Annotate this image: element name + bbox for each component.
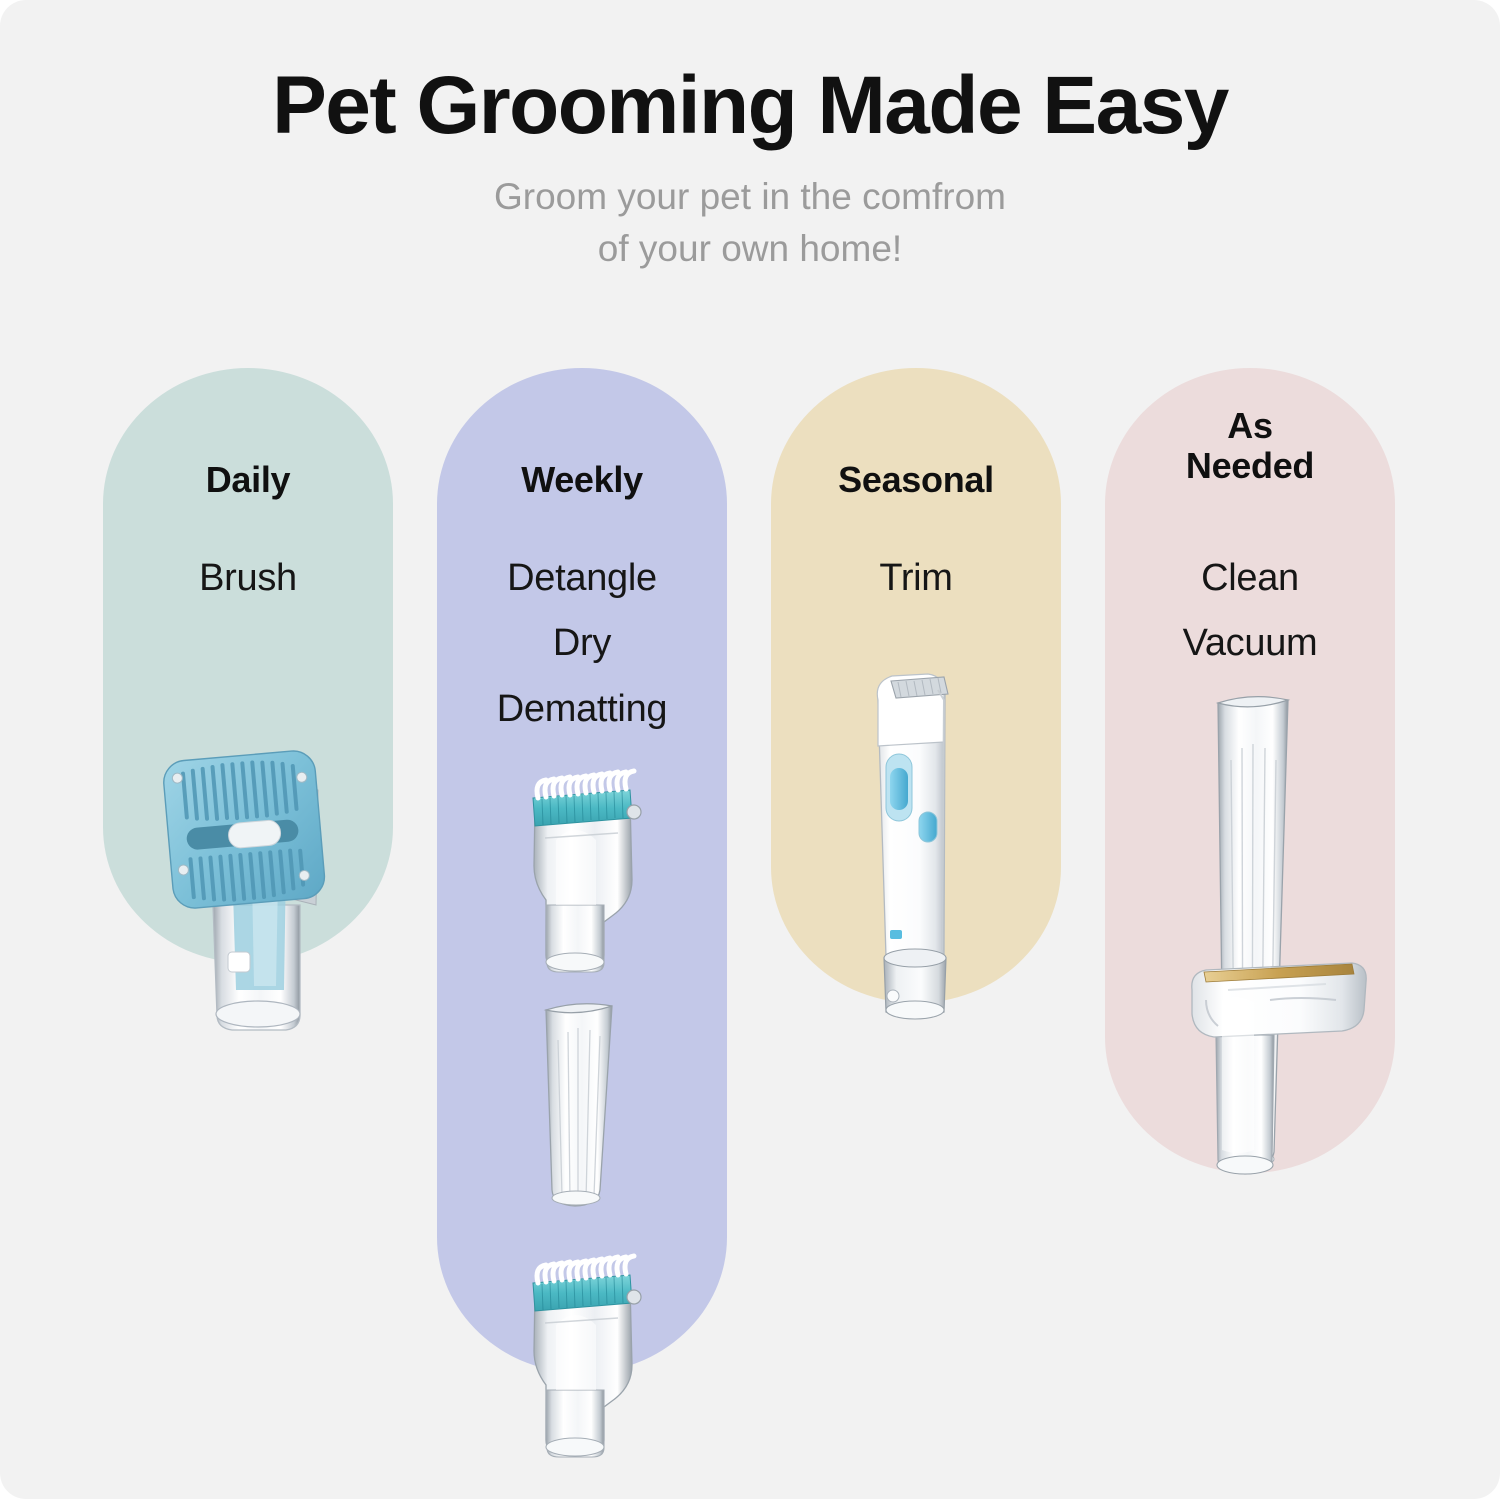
list-item: Dry: [437, 611, 727, 676]
schedule-card-weekly-items: Detangle Dry Dematting: [437, 546, 727, 742]
heading-line-1: As: [1105, 406, 1395, 446]
list-item: Clean: [1105, 546, 1395, 611]
schedule-card-seasonal: Seasonal Trim: [771, 368, 1061, 1003]
heading-line-2: Needed: [1105, 446, 1395, 486]
list-item: Detangle: [437, 546, 727, 611]
schedule-card-seasonal-heading: Seasonal: [771, 460, 1061, 500]
schedule-card-weekly: Weekly Detangle Dry Dematting: [437, 368, 727, 1373]
schedule-card-daily: Daily Brush: [103, 368, 393, 963]
schedule-card-as-needed-heading: As Needed: [1105, 406, 1395, 487]
schedule-card-daily-heading: Daily: [103, 460, 393, 500]
schedule-card-seasonal-items: Trim: [771, 546, 1061, 611]
schedule-card-weekly-heading: Weekly: [437, 460, 727, 500]
list-item: Brush: [103, 546, 393, 611]
list-item: Trim: [771, 546, 1061, 611]
schedule-card-as-needed: As Needed Clean Vacuum: [1105, 368, 1395, 1173]
schedule-card-daily-items: Brush: [103, 546, 393, 611]
grooming-schedule-cards: Daily Brush Weekly Detangle Dry Demattin…: [0, 0, 1500, 1499]
list-item: Dematting: [437, 677, 727, 742]
list-item: Vacuum: [1105, 611, 1395, 676]
schedule-card-as-needed-items: Clean Vacuum: [1105, 546, 1395, 677]
poster-root: Pet Grooming Made Easy Groom your pet in…: [0, 0, 1500, 1499]
